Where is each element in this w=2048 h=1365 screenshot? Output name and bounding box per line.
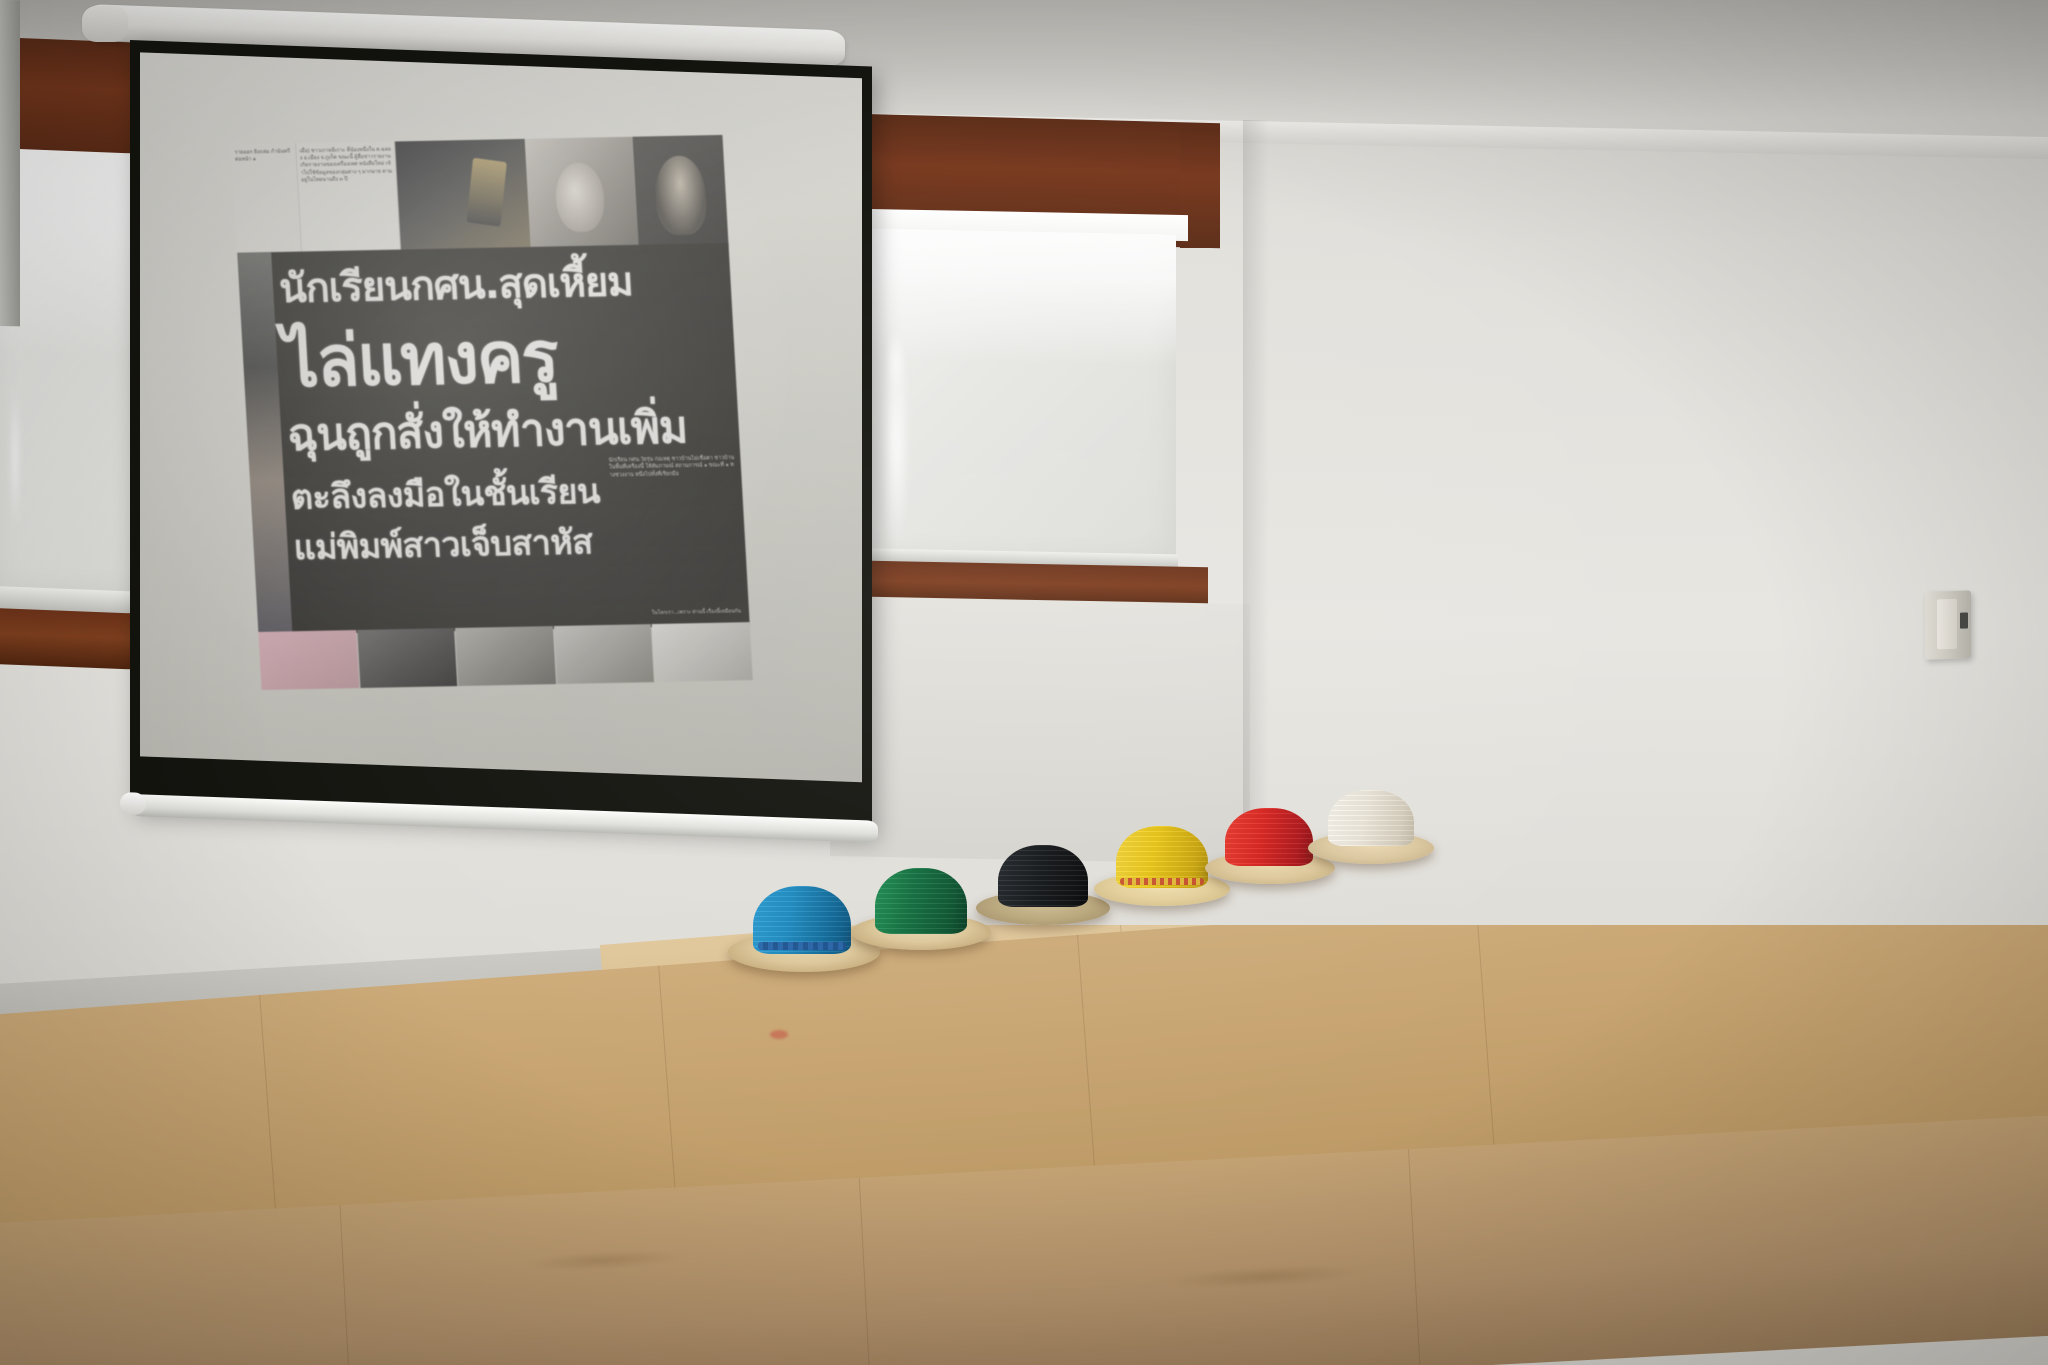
light-switch-plate[interactable] — [1925, 590, 1971, 659]
newspaper-thumb-4 — [554, 624, 655, 684]
whiteboard-right — [846, 228, 1176, 564]
photo-scene: รายออก ยิงถล่ม กำนันทรี ต่อหน้า ๑ เมื่อ)… — [0, 0, 2048, 1365]
newspaper-body-text: นักเรียน กศน.วัยรุ่น ก่อเหตุ ชาวบ้านไม่เ… — [608, 455, 735, 480]
light-switch-indicator — [1960, 612, 1968, 628]
whiteboard-right-smudge-a — [880, 325, 910, 556]
projection-screen-roller-endcap — [82, 6, 128, 42]
hat-blue-band — [758, 942, 846, 950]
newspaper-thumb-2 — [357, 628, 458, 688]
projection-screen-assembly: รายออก ยิงถล่ม กำนันทรี ต่อหน้า ๑ เมื่อ)… — [110, 4, 870, 824]
whiteboard-right-side-reveal — [0, 0, 20, 326]
newspaper-column-left: รายออก ยิงถล่ม กำนันทรี ต่อหน้า ๑ — [231, 143, 302, 256]
newspaper-thumbnail-strip — [258, 622, 752, 690]
newspaper-top-strip: รายออก ยิงถล่ม กำนันทรี ต่อหน้า ๑ เมื่อ)… — [231, 135, 728, 257]
projection-screen-pull-handle[interactable] — [120, 792, 146, 815]
wall-panel-below-right-board — [830, 596, 1250, 864]
projection-screen-border: รายออก ยิงถล่ม กำนันทรี ต่อหน้า ๑ เมื่อ)… — [130, 40, 872, 835]
hat-white[interactable] — [1308, 790, 1434, 864]
newspaper-photo-suspect — [633, 135, 729, 249]
wall-corner-shadow — [1243, 120, 1269, 880]
newspaper-headline-5: แม่พิมพ์สาวเจ็บสาหัส — [292, 514, 594, 574]
newspaper-photo-victim — [525, 137, 639, 251]
stage-floor-mark — [770, 1030, 788, 1039]
hat-green-crown — [875, 868, 967, 934]
whiteboard-left-smudge — [10, 381, 20, 531]
newspaper-kicker-text: ในโลกเรา...เพราะ ท่านนี้ เรื่องนี้เหมือน… — [637, 609, 741, 618]
hat-red-crown — [1225, 808, 1313, 866]
whiteboard-right-glare — [846, 228, 1176, 366]
newspaper-thumb-3 — [455, 626, 556, 686]
newspaper-column-mid: เมื่อ) ชาวเกาหลีเกาะ ที่น้องหนึ่งใน ต.ฉล… — [296, 141, 401, 255]
newspaper-thumb-5 — [652, 622, 753, 682]
hat-black[interactable] — [976, 845, 1110, 925]
projection-screen-surface: รายออก ยิงถล่ม กำนันทรี ต่อหน้า ๑ เมื่อ)… — [140, 52, 862, 782]
hat-green[interactable] — [851, 866, 991, 950]
stage-platform — [0, 925, 2048, 1365]
projected-slide-newspaper: รายออก ยิงถล่ม กำนันทรี ต่อหน้า ๑ เมื่อ)… — [231, 135, 753, 690]
hat-yellow-band — [1120, 878, 1204, 885]
hat-black-crown — [998, 845, 1088, 907]
newspaper-photo-gun — [395, 139, 531, 254]
newspaper-thumb-1 — [258, 630, 359, 690]
light-switch-rocker[interactable] — [1937, 599, 1957, 650]
hat-white-crown — [1328, 790, 1414, 846]
whiteboard-right-smudge-b — [886, 333, 904, 393]
newspaper-headline-block: นักเรียนกศน.สุดเหี้ยม ไล่แทงครู ฉุนถูกสั… — [237, 243, 750, 635]
